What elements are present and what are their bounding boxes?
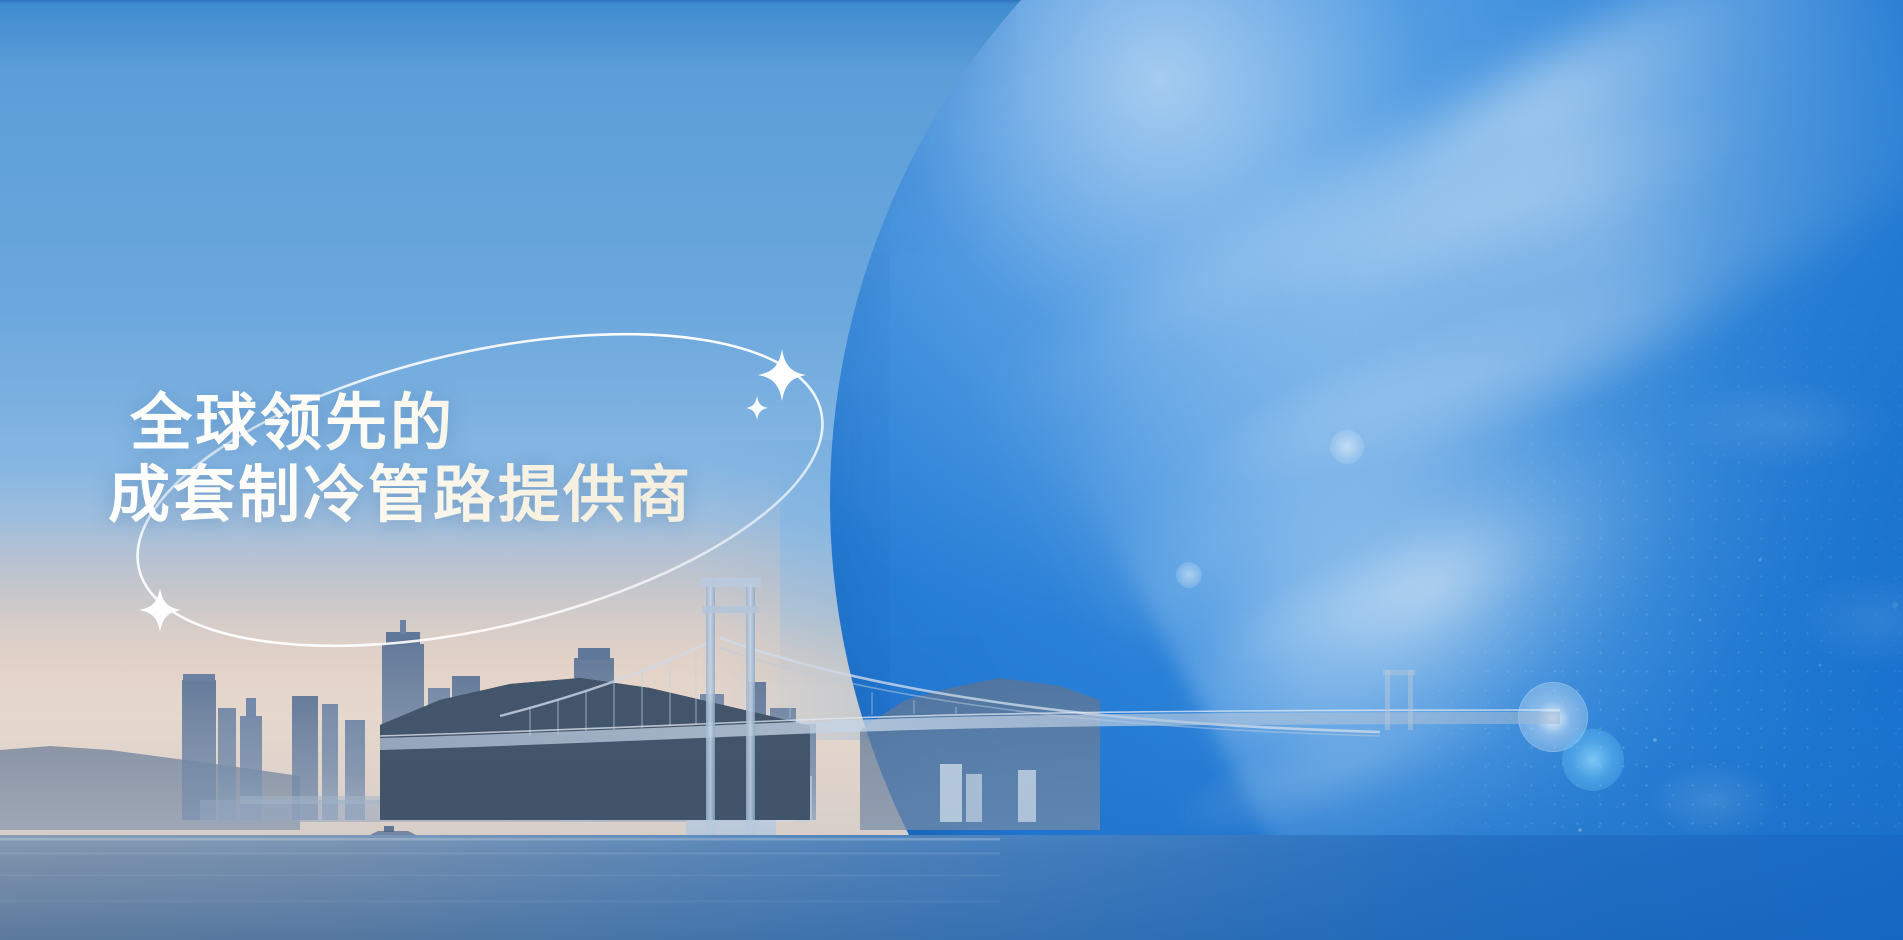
sea-water-shimmer: [0, 838, 1000, 938]
sparkle-star-bottom-left: [139, 588, 181, 632]
headline-line-1: 全球领先的: [130, 388, 808, 460]
headline: 全球领先的 成套制冷管路提供商: [108, 388, 808, 532]
headline-line-2: 成套制冷管路提供商: [108, 460, 808, 532]
hero-banner: 全球领先的 成套制冷管路提供商: [0, 0, 1903, 940]
